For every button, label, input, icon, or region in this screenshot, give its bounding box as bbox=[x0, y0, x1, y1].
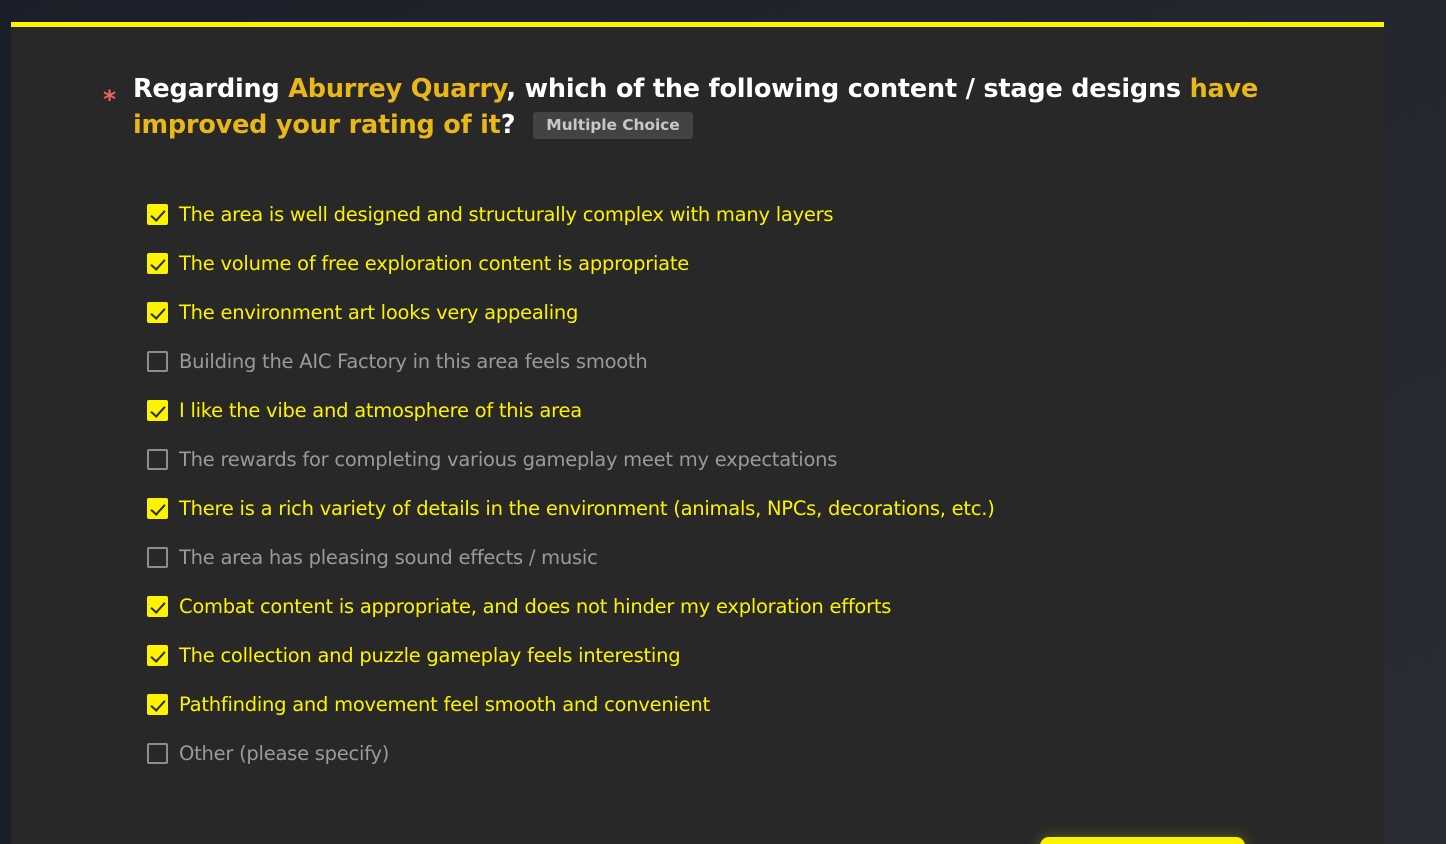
option-label: Pathfinding and movement feel smooth and… bbox=[179, 693, 710, 717]
option-row[interactable]: Building the AIC Factory in this area fe… bbox=[147, 350, 1327, 399]
question-type-badge: Multiple Choice bbox=[533, 112, 692, 139]
checkbox-checked-icon[interactable] bbox=[147, 253, 168, 274]
question-header: * Regarding Aburrey Quarry, which of the… bbox=[103, 71, 1283, 143]
checkbox-checked-icon[interactable] bbox=[147, 596, 168, 617]
option-row[interactable]: The collection and puzzle gameplay feels… bbox=[147, 644, 1327, 693]
question-title: Regarding Aburrey Quarry, which of the f… bbox=[133, 71, 1283, 143]
option-label: The rewards for completing various gamep… bbox=[179, 448, 837, 472]
checkbox-checked-icon[interactable] bbox=[147, 645, 168, 666]
checkbox-checked-icon[interactable] bbox=[147, 204, 168, 225]
option-row[interactable]: Combat content is appropriate, and does … bbox=[147, 595, 1327, 644]
checkbox-checked-icon[interactable] bbox=[147, 694, 168, 715]
checkbox-unchecked-icon[interactable] bbox=[147, 351, 168, 372]
checkbox-unchecked-icon[interactable] bbox=[147, 743, 168, 764]
option-row[interactable]: Pathfinding and movement feel smooth and… bbox=[147, 693, 1327, 742]
checkbox-checked-icon[interactable] bbox=[147, 498, 168, 519]
checkbox-unchecked-icon[interactable] bbox=[147, 547, 168, 568]
option-label: There is a rich variety of details in th… bbox=[179, 497, 995, 521]
option-row[interactable]: The rewards for completing various gamep… bbox=[147, 448, 1327, 497]
option-label: Building the AIC Factory in this area fe… bbox=[179, 350, 647, 374]
question-subject: Aburrey Quarry bbox=[288, 74, 506, 104]
checkbox-checked-icon[interactable] bbox=[147, 400, 168, 421]
option-label: The area has pleasing sound effects / mu… bbox=[179, 546, 598, 570]
question-card: * Regarding Aburrey Quarry, which of the… bbox=[11, 22, 1384, 844]
submit-button[interactable] bbox=[1040, 837, 1245, 844]
survey-page: * Regarding Aburrey Quarry, which of the… bbox=[0, 0, 1446, 844]
option-label: The volume of free exploration content i… bbox=[179, 252, 689, 276]
option-row[interactable]: The volume of free exploration content i… bbox=[147, 252, 1327, 301]
question-middle: , which of the following content / stage… bbox=[506, 74, 1189, 104]
option-row[interactable]: The area has pleasing sound effects / mu… bbox=[147, 546, 1327, 595]
options-list: The area is well designed and structural… bbox=[147, 203, 1327, 791]
option-label: The environment art looks very appealing bbox=[179, 301, 578, 325]
option-label: Combat content is appropriate, and does … bbox=[179, 595, 891, 619]
question-prefix: Regarding bbox=[133, 74, 288, 104]
option-label: I like the vibe and atmosphere of this a… bbox=[179, 399, 582, 423]
required-marker: * bbox=[103, 87, 116, 112]
option-row[interactable]: The area is well designed and structural… bbox=[147, 203, 1327, 252]
question-suffix: ? bbox=[501, 110, 516, 140]
option-label: The collection and puzzle gameplay feels… bbox=[179, 644, 680, 668]
option-row[interactable]: There is a rich variety of details in th… bbox=[147, 497, 1327, 546]
checkbox-checked-icon[interactable] bbox=[147, 302, 168, 323]
checkbox-unchecked-icon[interactable] bbox=[147, 449, 168, 470]
option-row[interactable]: I like the vibe and atmosphere of this a… bbox=[147, 399, 1327, 448]
option-row[interactable]: The environment art looks very appealing bbox=[147, 301, 1327, 350]
left-rail bbox=[0, 0, 11, 844]
option-row[interactable]: Other (please specify) bbox=[147, 742, 1327, 791]
option-label: The area is well designed and structural… bbox=[179, 203, 833, 227]
option-label: Other (please specify) bbox=[179, 742, 389, 766]
